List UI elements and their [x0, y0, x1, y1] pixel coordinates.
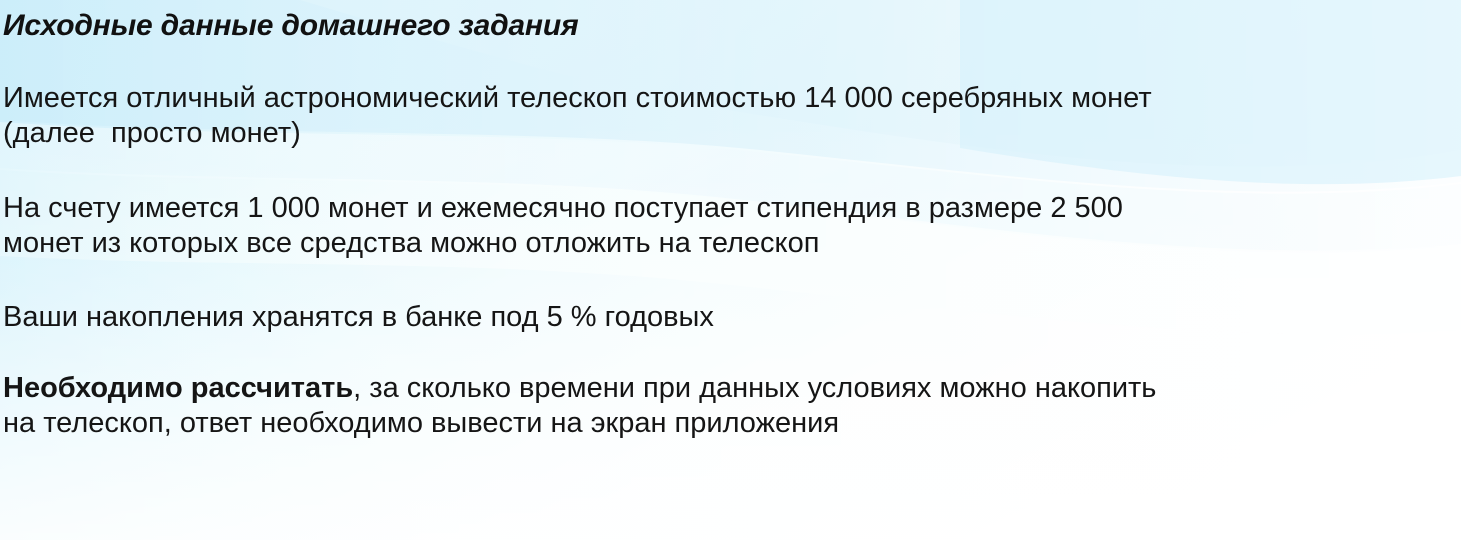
paragraph-line: (далее просто монет): [3, 116, 1451, 151]
paragraph-bank-interest: Ваши накопления хранятся в банке под 5 %…: [3, 300, 1451, 335]
paragraph-account-and-stipend: На счету имеется 1 000 монет и ежемесячн…: [3, 191, 1451, 261]
presentation-slide: Исходные данные домашнего задания Имеетс…: [0, 0, 1461, 540]
paragraph-line: Имеется отличный астрономический телеско…: [3, 81, 1451, 116]
paragraph-line: Ваши накопления хранятся в банке под 5 %…: [3, 300, 1451, 335]
paragraph-line: Необходимо рассчитать, за сколько времен…: [3, 371, 1451, 406]
paragraph-line: монет из которых все средства можно отло…: [3, 226, 1451, 261]
paragraph-task-requirement: Необходимо рассчитать, за сколько времен…: [3, 371, 1451, 441]
paragraph-telescope-cost: Имеется отличный астрономический телеско…: [3, 81, 1451, 151]
task-requirement-lead: Необходимо рассчитать: [3, 372, 353, 404]
paragraph-line: на телескоп, ответ необходимо вывести на…: [3, 406, 1451, 441]
slide-title: Исходные данные домашнего задания: [3, 9, 578, 43]
task-requirement-rest: , за сколько времени при данных условиях…: [353, 372, 1156, 404]
paragraph-line: На счету имеется 1 000 монет и ежемесячн…: [3, 191, 1451, 226]
